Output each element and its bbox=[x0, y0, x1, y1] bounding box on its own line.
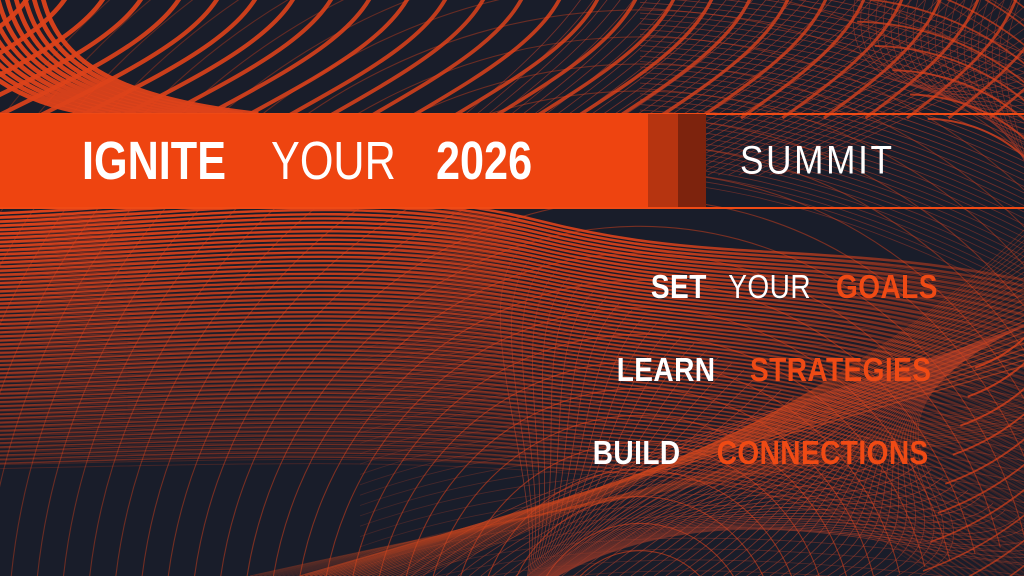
bullet-1-accent: GOALS bbox=[836, 270, 938, 303]
title-word-ignite: IGNITE bbox=[82, 134, 226, 188]
bullet-3-accent: CONNECTIONS bbox=[716, 436, 928, 469]
list-item: BUILDCONNECTIONS bbox=[527, 436, 947, 469]
promo-banner-canvas: IGNITEYOUR2026 SUMMIT SETYOURGOALS LEARN… bbox=[0, 0, 1024, 576]
title-word-your: YOUR bbox=[271, 134, 396, 188]
headline-banner: IGNITEYOUR2026 SUMMIT bbox=[0, 113, 1024, 209]
bullet-3-lead: BUILD bbox=[593, 436, 681, 469]
list-item: LEARNSTRATEGIES bbox=[527, 353, 947, 386]
list-item: SETYOURGOALS bbox=[527, 270, 947, 303]
banner-block-dark bbox=[678, 114, 706, 208]
bullet-2-accent: STRATEGIES bbox=[750, 353, 931, 386]
page-title: IGNITEYOUR2026 bbox=[82, 134, 556, 188]
event-type-text: SUMMIT bbox=[740, 139, 895, 184]
bullet-2-lead: LEARN bbox=[617, 353, 716, 386]
value-prop-list: SETYOURGOALS LEARNSTRATEGIES BUILDCONNEC… bbox=[527, 270, 947, 469]
banner-bottom-rule bbox=[0, 207, 1024, 209]
banner-block-mid bbox=[648, 114, 678, 208]
event-type-label: SUMMIT bbox=[740, 139, 916, 184]
bullet-1-lead: SET bbox=[651, 270, 707, 303]
bullet-1-mid: YOUR bbox=[728, 270, 811, 303]
title-word-year: 2026 bbox=[436, 134, 532, 188]
